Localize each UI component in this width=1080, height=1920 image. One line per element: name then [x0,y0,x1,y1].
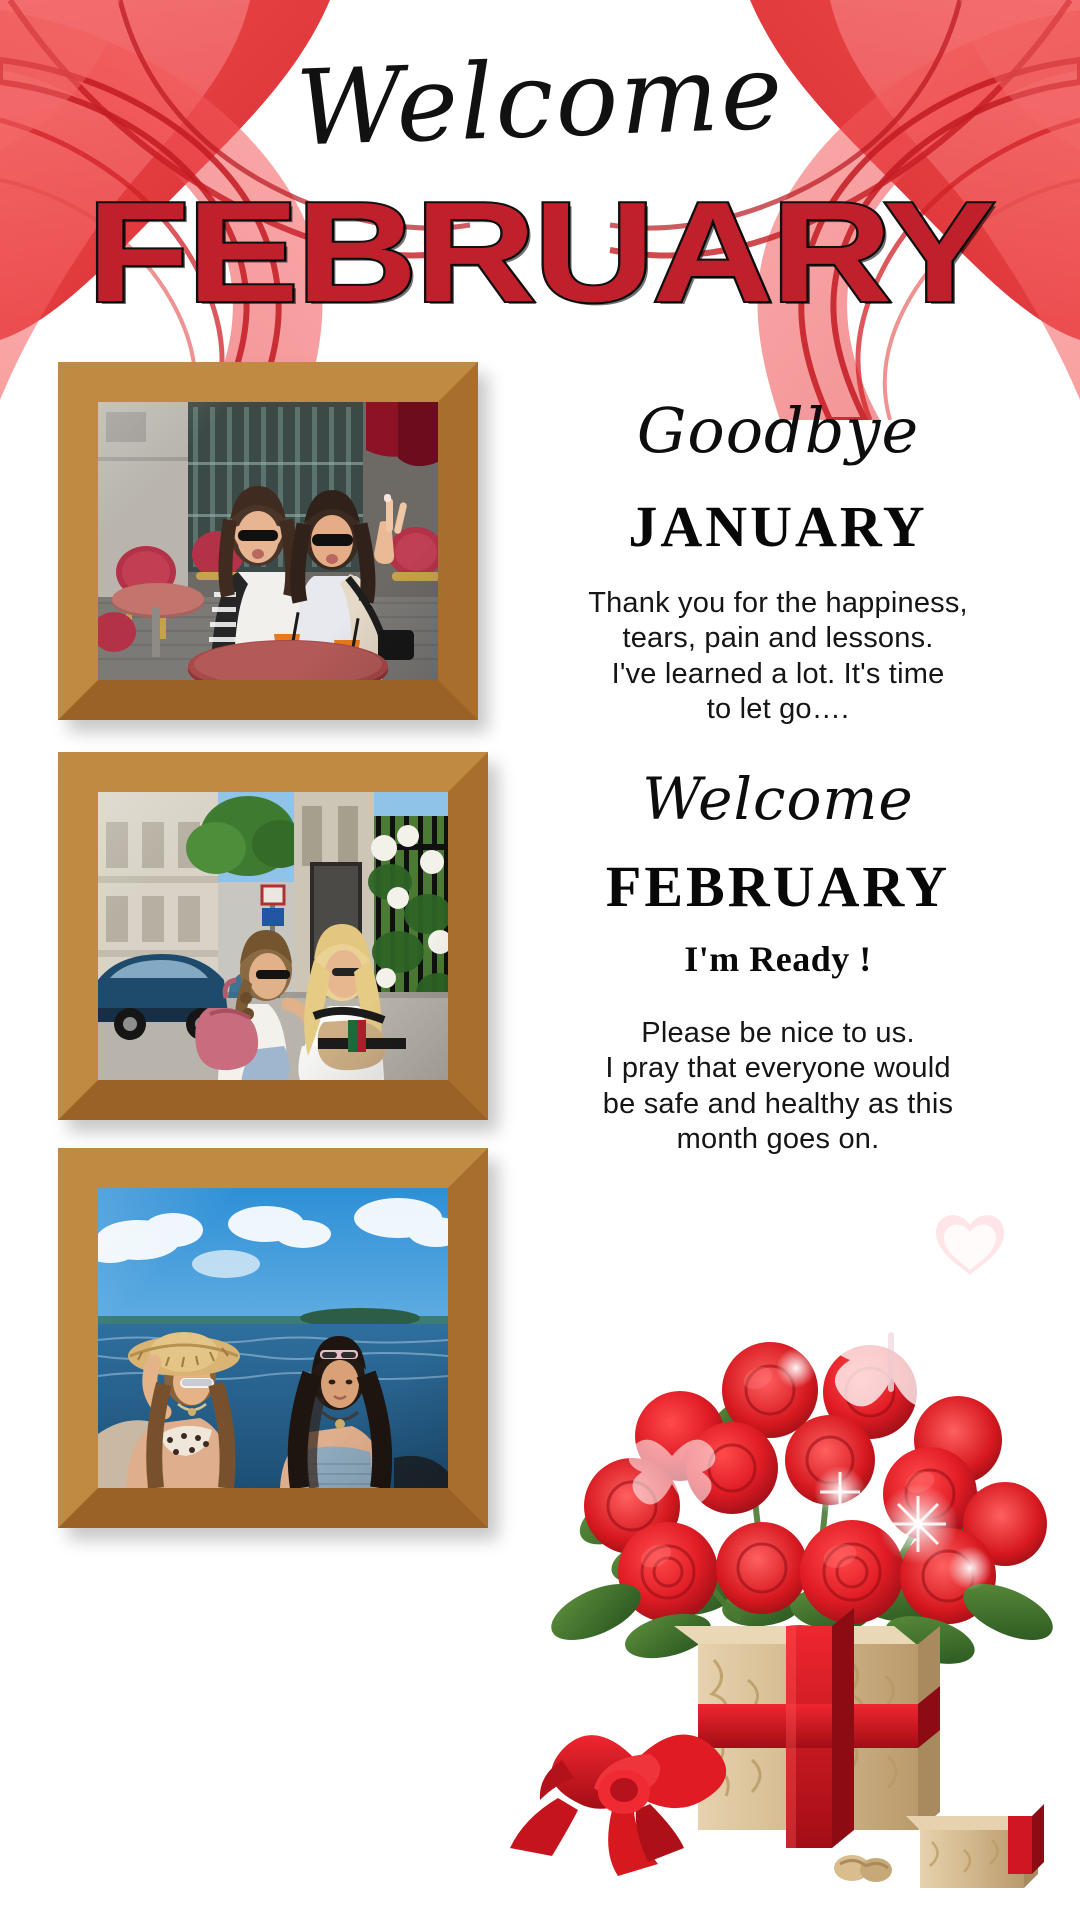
red-roses-bouquet-icon [500,1120,1080,1920]
welcome-script-heading: Welcome [478,770,1078,828]
photo-cafe [98,402,438,680]
poster-header: Welcome FEBRUARY [0,0,1080,360]
goodbye-script-heading: Goodbye [478,400,1078,462]
photo-street [98,792,448,1080]
poster-canvas: Welcome FEBRUARY [0,0,1080,1920]
photo-frame-cafe[interactable] [58,362,478,720]
small-gift-box [906,1804,1044,1888]
page-title-month: FEBRUARY [0,182,1080,324]
im-ready-subheading: I'm Ready ! [478,938,1078,980]
photo-beach [98,1188,448,1488]
page-title-script: Welcome [0,29,1080,171]
text-block-goodbye-january: Goodbye JANUARY Thank you for the happin… [478,400,1078,728]
february-heading: FEBRUARY [478,858,1078,916]
red-bow-icon [510,1735,726,1876]
gold-gift-box [674,1608,940,1848]
photo-frame-beach[interactable] [58,1148,488,1528]
pearl-ornaments [834,1855,892,1882]
photo-frame-street[interactable] [58,752,488,1120]
january-body-text: Thank you for the happiness, tears, pain… [478,586,1078,728]
pink-heart-icon [936,1215,1004,1275]
january-heading: JANUARY [478,498,1078,556]
text-block-welcome-february: Welcome FEBRUARY I'm Ready ! Please be n… [478,770,1078,1158]
